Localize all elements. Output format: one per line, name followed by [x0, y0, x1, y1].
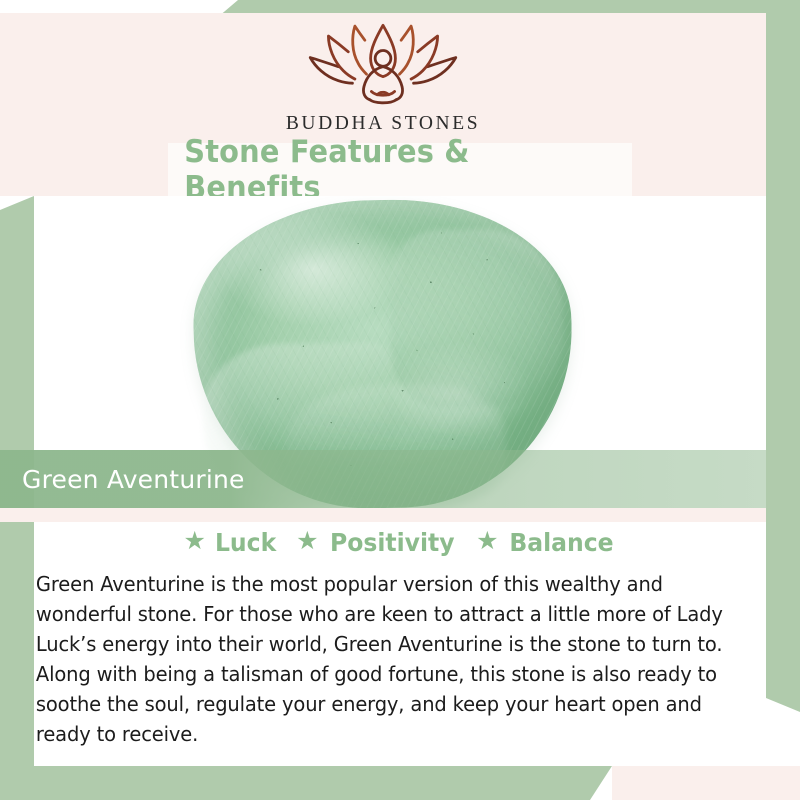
benefit-item-balance: ★ Balance — [476, 528, 616, 557]
infographic-page: BUDDHA STONES Stone Features & Benefits … — [0, 0, 800, 800]
page-title: Stone Features & Benefits — [184, 134, 616, 206]
frame-bottom-accent — [0, 766, 612, 800]
benefit-item-luck: ★ Luck — [184, 528, 279, 557]
brand-logo: BUDDHA STONES — [0, 22, 766, 135]
stone-name-label: Green Aventurine — [22, 465, 245, 494]
cream-divider — [0, 508, 766, 522]
bottom-cream-accent — [612, 766, 800, 800]
lotus-meditation-figure-icon — [299, 22, 467, 108]
star-icon: ★ — [476, 529, 498, 554]
frame-right-accent — [766, 0, 800, 712]
stone-name-bar: Green Aventurine — [0, 450, 766, 508]
star-icon: ★ — [296, 529, 318, 554]
benefit-item-positivity: ★ Positivity — [296, 528, 458, 557]
star-icon: ★ — [184, 529, 206, 554]
content-area: ★ Luck ★ Positivity ★ Balance Green Aven… — [34, 522, 766, 766]
description-paragraph: Green Aventurine is the most popular ver… — [34, 570, 733, 750]
brand-name: BUDDHA STONES — [286, 113, 480, 135]
benefit-label: Luck — [215, 528, 276, 557]
benefit-label: Balance — [509, 528, 613, 557]
benefits-row: ★ Luck ★ Positivity ★ Balance — [34, 528, 766, 557]
benefit-label: Positivity — [330, 528, 455, 557]
title-banner: Stone Features & Benefits — [168, 143, 632, 196]
